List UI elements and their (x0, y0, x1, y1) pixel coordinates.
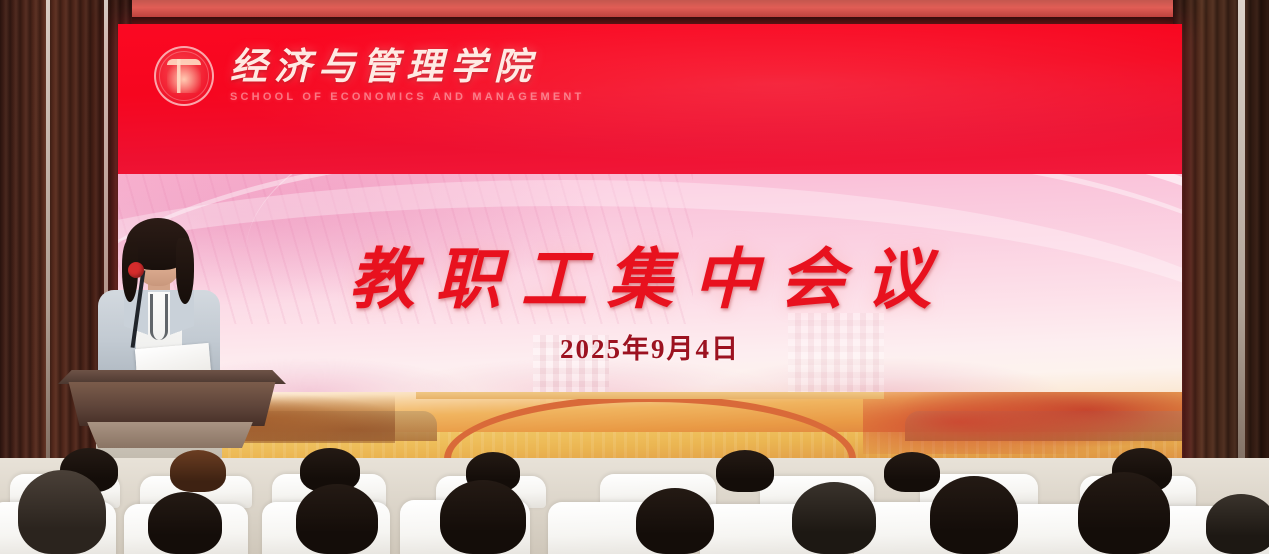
speaker-hair (176, 238, 194, 304)
lanyard (150, 294, 168, 340)
audience-member (792, 482, 876, 554)
university-seal-icon (154, 46, 214, 106)
podium-top (58, 370, 286, 384)
audience-member (148, 492, 222, 554)
audience-member (1206, 494, 1269, 554)
arched-bridge (416, 392, 884, 439)
audience-member (296, 484, 378, 554)
microphone-icon (128, 262, 144, 278)
audience-member (170, 450, 226, 492)
audience-member (884, 452, 940, 492)
podium-front-panel (62, 382, 282, 426)
bridge-deck (416, 392, 884, 399)
audience-member (440, 480, 526, 554)
screen-header-band: 经济与管理学院 SCHOOL OF ECONOMICS AND MANAGEME… (118, 24, 1182, 174)
ceiling-soffit (0, 0, 1269, 17)
audience-member (636, 488, 714, 554)
audience-member (930, 476, 1018, 554)
conference-photo: 经济与管理学院 SCHOOL OF ECONOMICS AND MANAGEME… (0, 0, 1269, 554)
audience-member (18, 470, 106, 554)
institution-name-cn: 经济与管理学院 (230, 49, 584, 88)
institution-logo: 经济与管理学院 SCHOOL OF ECONOMICS AND MANAGEME… (154, 46, 584, 106)
institution-name-en: SCHOOL OF ECONOMICS AND MANAGEMENT (230, 91, 584, 103)
audience-member (716, 450, 774, 492)
audience-seating (0, 434, 1269, 554)
audience-member (1078, 472, 1170, 554)
